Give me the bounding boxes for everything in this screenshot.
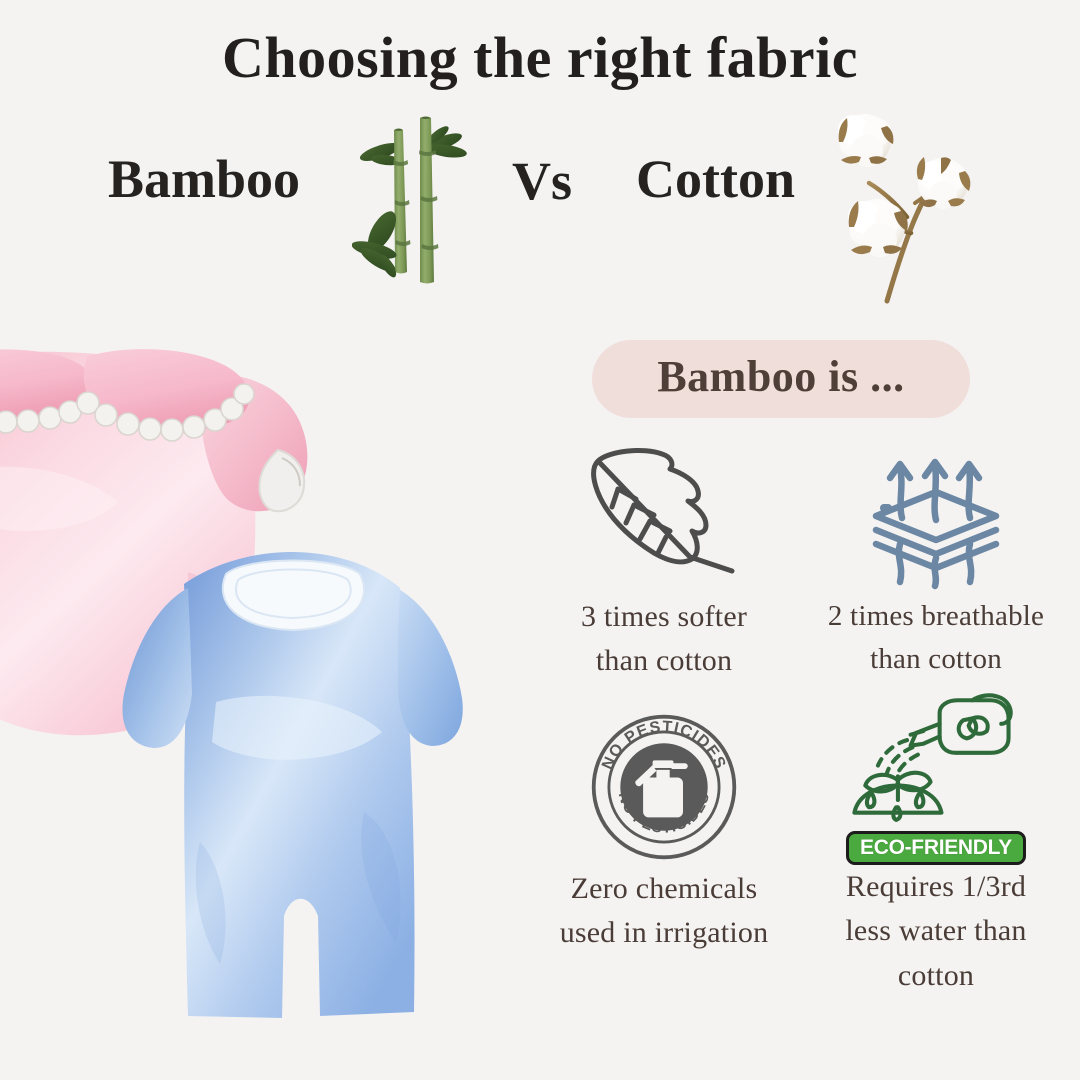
comparison-left-label: Bamboo: [108, 148, 300, 210]
benefit-less-water: ECO-FRIENDLY Requires 1/3rd less water t…: [800, 693, 1072, 998]
comparison-right-label: Cotton: [636, 148, 795, 210]
benefit-breathable-text: 2 times breathable than cotton: [800, 595, 1072, 681]
benefit-softer-line1: 3 times softer: [528, 595, 800, 639]
benefits-grid: 3 times softer than cotton: [520, 435, 1080, 1080]
blue-baby-romper-illustration: [96, 512, 486, 1057]
benefit-breathable: 2 times breathable than cotton: [800, 435, 1072, 681]
benefit-no-chemicals-line2: used in irrigation: [528, 911, 800, 955]
benefit-less-water-line3: cotton: [800, 954, 1072, 998]
breathable-layers-icon: [800, 435, 1072, 595]
benefit-less-water-text: Requires 1/3rd less water than cotton: [800, 865, 1072, 998]
benefit-no-chemicals: NO PESTICIDES NO PESTICIDES: [528, 707, 800, 956]
cotton-branch-illustration: [815, 105, 1025, 305]
benefit-no-chemicals-text: Zero chemicals used in irrigation: [528, 867, 800, 956]
benefit-breathable-line2: than cotton: [800, 638, 1072, 681]
eco-friendly-badge: ECO-FRIENDLY: [846, 831, 1026, 865]
no-pesticides-badge-icon: NO PESTICIDES NO PESTICIDES: [528, 707, 800, 867]
benefit-softer-line2: than cotton: [528, 639, 800, 683]
bamboo-is-banner: Bamboo is ...: [592, 340, 970, 418]
page-title: Choosing the right fabric: [0, 24, 1080, 91]
infographic-canvas: Choosing the right fabric Bamboo Vs Cott…: [0, 0, 1080, 1080]
benefit-no-chemicals-line1: Zero chemicals: [528, 867, 800, 911]
bamboo-is-banner-label: Bamboo is ...: [657, 355, 904, 403]
benefit-breathable-line1: 2 times breathable: [800, 595, 1072, 638]
benefit-softer-text: 3 times softer than cotton: [528, 595, 800, 684]
benefit-less-water-line2: less water than: [800, 909, 1072, 953]
feather-icon: [528, 435, 800, 595]
bamboo-stalks-illustration: [352, 104, 472, 284]
watering-can-sprout-icon: ECO-FRIENDLY: [800, 693, 1072, 865]
comparison-separator-label: Vs: [512, 150, 572, 212]
benefit-softer: 3 times softer than cotton: [528, 435, 800, 684]
benefit-less-water-line1: Requires 1/3rd: [800, 865, 1072, 909]
